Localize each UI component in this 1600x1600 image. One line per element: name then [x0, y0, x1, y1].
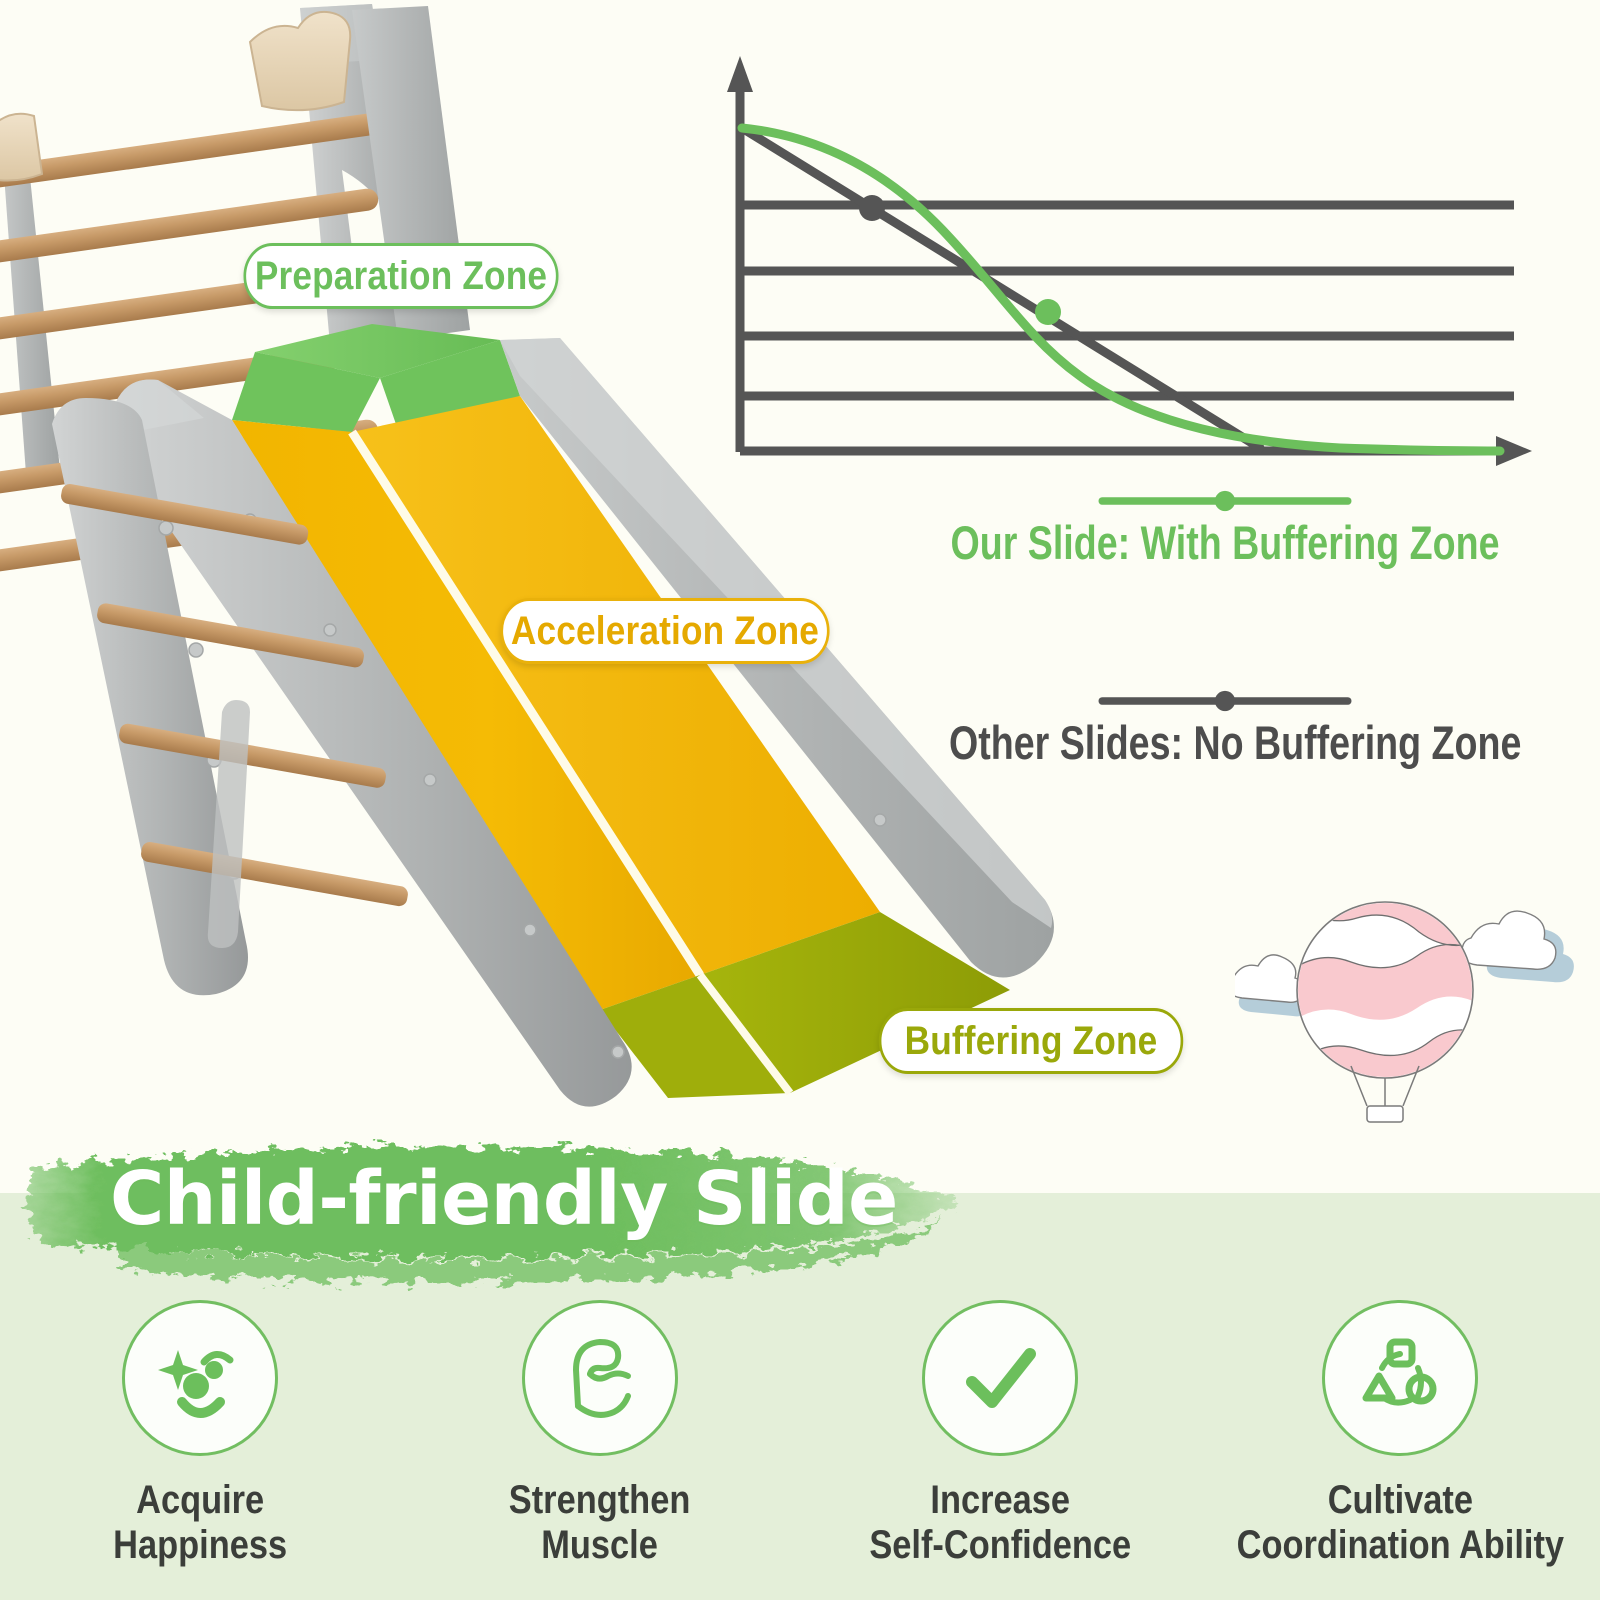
zone-label-acceleration: Acceleration Zone: [500, 598, 829, 664]
hot-air-balloon-icon: [1235, 880, 1580, 1125]
legend-item-other-slides: Other Slides: No Buffering Zone: [880, 690, 1570, 769]
page-title: Child-friendly Slide: [110, 1144, 960, 1254]
coordination-icon: [1348, 1326, 1452, 1430]
feature-label-acquire-happiness: Acquire Happiness: [113, 1478, 287, 1568]
happy-face-icon-wrapper: [122, 1300, 278, 1456]
zone-label-preparation: Preparation Zone: [243, 243, 558, 309]
feature-label-coordination: Cultivate Coordination Ability: [1236, 1478, 1563, 1568]
coordination-icon-wrapper: [1322, 1300, 1478, 1456]
legend-swatch-green: [880, 490, 1570, 512]
chart-series-our-slide: [742, 128, 1500, 451]
zone-label-preparation-text: Preparation Zone: [255, 254, 547, 299]
legend-label-other-slides: Other Slides: No Buffering Zone: [949, 717, 1501, 769]
check-icon: [948, 1326, 1052, 1430]
zone-label-buffering: Buffering Zone: [879, 1008, 1183, 1074]
feature-item-acquire-happiness: Acquire Happiness: [0, 1300, 400, 1600]
balloon-envelope: [1281, 880, 1493, 1094]
speed-comparison-chart: [700, 40, 1560, 480]
feature-item-strengthen-muscle: Strengthen Muscle: [400, 1300, 800, 1600]
feature-item-increase-confidence: Increase Self-Confidence: [800, 1300, 1200, 1600]
page-title-text: Child-friendly Slide: [110, 1156, 898, 1242]
infographic-canvas: Preparation Zone Acceleration Zone Buffe…: [0, 0, 1600, 1600]
legend-swatch-grey: [880, 690, 1570, 712]
check-icon-wrapper: [922, 1300, 1078, 1456]
happy-face-icon: [148, 1326, 252, 1430]
feature-list: Acquire Happiness Strengthen Muscle: [0, 1300, 1600, 1600]
bicep-icon: [548, 1326, 652, 1430]
legend-item-our-slide: Our Slide: With Buffering Zone: [880, 490, 1570, 569]
zone-label-buffering-text: Buffering Zone: [905, 1019, 1158, 1064]
feature-label-increase-confidence: Increase Self-Confidence: [869, 1478, 1131, 1568]
feature-label-strengthen-muscle: Strengthen Muscle: [509, 1478, 691, 1568]
zone-label-acceleration-text: Acceleration Zone: [511, 609, 819, 654]
feature-item-coordination: Cultivate Coordination Ability: [1200, 1300, 1600, 1600]
bicep-icon-wrapper: [522, 1300, 678, 1456]
legend-label-our-slide: Our Slide: With Buffering Zone: [949, 517, 1501, 569]
